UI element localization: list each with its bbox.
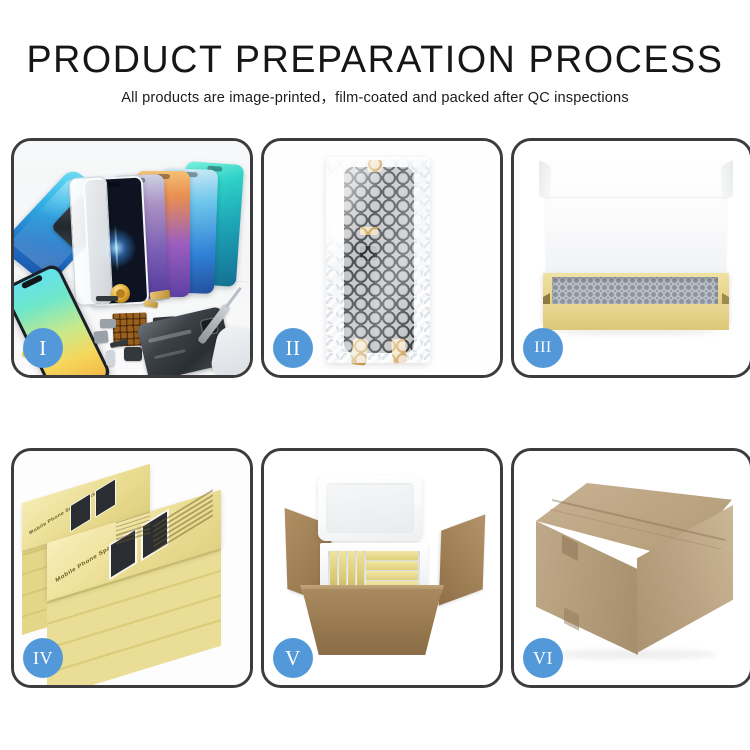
- panel-step-1[interactable]: I: [11, 138, 253, 378]
- tempered-glass-film-icon: [69, 176, 114, 306]
- box-label-screen-2-icon: [95, 478, 116, 518]
- inner-box-horizontal-2: [366, 561, 418, 570]
- part-speaker-mesh-icon: [124, 347, 142, 361]
- panel-step-5[interactable]: V: [261, 448, 503, 688]
- step-badge-3: III: [523, 328, 563, 368]
- page-subtitle: All products are image-printed，film-coat…: [0, 89, 750, 107]
- housing-strip-secondary: [154, 349, 186, 359]
- part-flex-strip-icon: [96, 296, 118, 301]
- panel-step-2[interactable]: II: [261, 138, 503, 378]
- process-panel-grid: I II: [0, 132, 750, 750]
- part-sim-tray-icon: [106, 350, 115, 366]
- white-box-lid-icon: [546, 163, 726, 287]
- housing-strip: [148, 329, 192, 343]
- step-badge-5: V: [273, 638, 313, 678]
- header: PRODUCT PREPARATION PROCESS All products…: [0, 0, 750, 132]
- step-badge-2: II: [273, 328, 313, 368]
- box-label-screen-1-icon: [70, 493, 91, 533]
- box-stack-front-icon: Mobile Phone Spare Parts: [47, 543, 221, 688]
- page-title: PRODUCT PREPARATION PROCESS: [4, 39, 747, 81]
- panel-step-4[interactable]: Mobile Phone Spare Parts Mobile Phone Sp…: [11, 448, 253, 688]
- inner-box-horizontal-1: [366, 551, 418, 560]
- foam-box-lid-icon: [318, 475, 422, 541]
- step-badge-6: VI: [523, 638, 563, 678]
- step-badge-4: IV: [23, 638, 63, 678]
- panel-step-6[interactable]: VI: [511, 448, 750, 688]
- inner-box-horizontal-3: [366, 571, 418, 580]
- step-badge-1: I: [23, 328, 63, 368]
- part-metal-bracket-icon: [100, 319, 116, 328]
- part-metal-shield-icon: [93, 330, 108, 343]
- cardboard-carton-body-icon: [302, 589, 442, 655]
- plastic-gloss-overlay: [326, 157, 430, 363]
- lid-crease: [548, 197, 724, 198]
- tray-front-face: [543, 304, 729, 330]
- panel-step-3[interactable]: III: [511, 138, 750, 378]
